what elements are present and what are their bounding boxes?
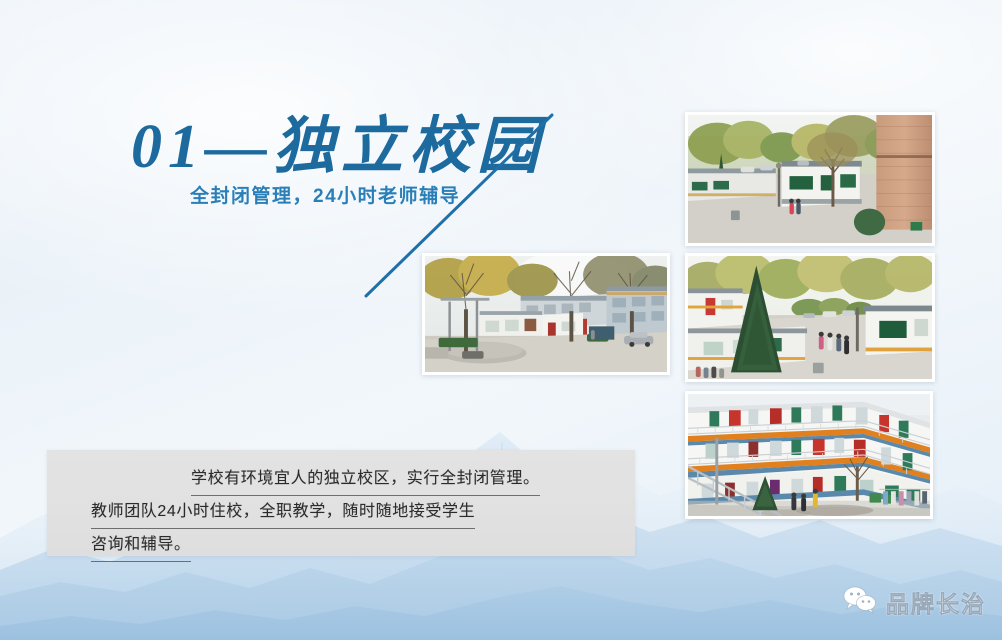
photo-dormitory-building xyxy=(685,391,933,519)
description-line-3: 咨询和辅导。 xyxy=(91,529,191,562)
description-text: 学校有环境宜人的独立校区，实行全封闭管理。 教师团队24小时住校，全职教学，随时… xyxy=(91,463,591,562)
photo-campus-courtyard-aerial xyxy=(685,112,935,246)
watermark: 品牌长治 xyxy=(842,585,986,619)
wechat-icon xyxy=(842,586,878,619)
description-line-1: 学校有环境宜人的独立校区，实行全封闭管理。 xyxy=(191,463,540,496)
watermark-text: 品牌长治 xyxy=(886,585,986,619)
slide-canvas: 01—独立校园 全封闭管理，24小时老师辅导 xyxy=(0,0,1002,640)
photo-campus-front-yard xyxy=(422,253,670,375)
description-card: 学校有环境宜人的独立校区，实行全封闭管理。 教师团队24小时住校，全职教学，随时… xyxy=(47,450,635,556)
photo-campus-pine-courtyard xyxy=(685,253,935,382)
description-line-2: 教师团队24小时住校，全职教学，随时随地接受学生 xyxy=(91,496,475,529)
